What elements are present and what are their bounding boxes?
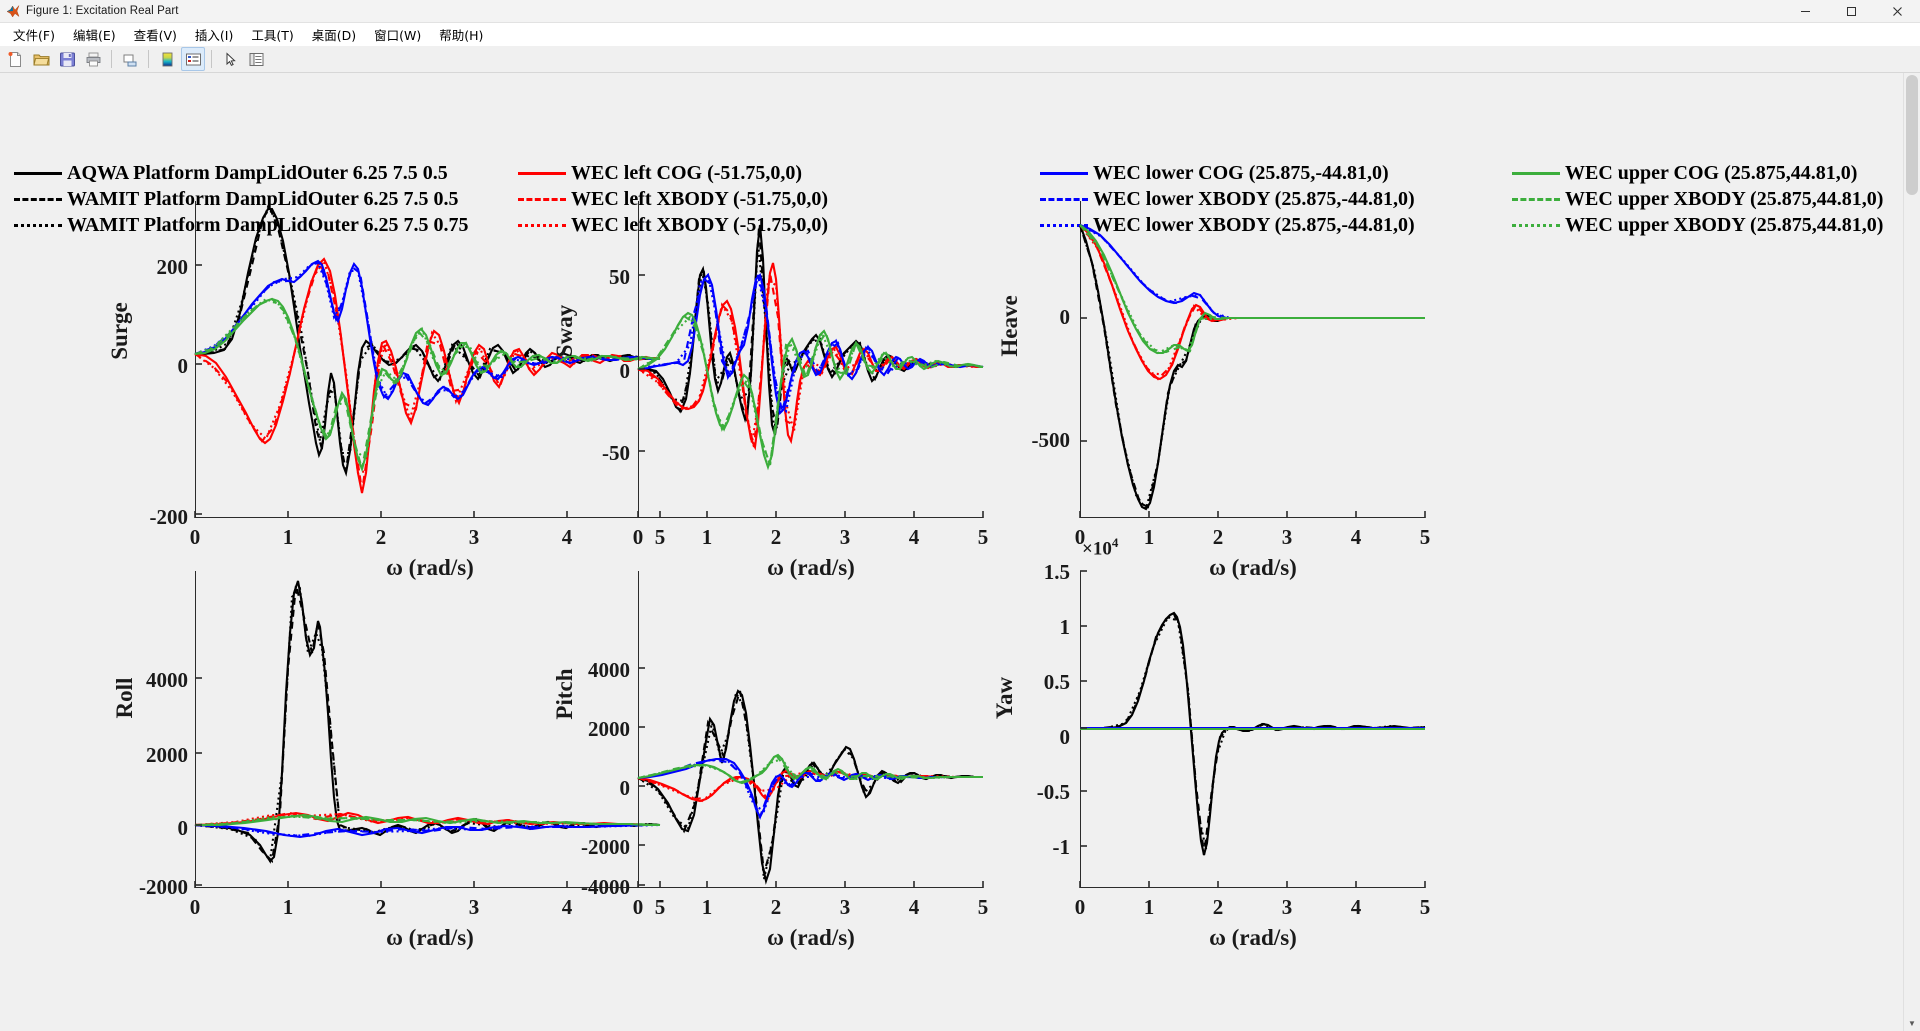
yaw-curves bbox=[0, 73, 1920, 1031]
plot-browser-icon bbox=[248, 51, 265, 68]
figure-vertical-scrollbar[interactable]: ▲ ▼ bbox=[1903, 73, 1920, 1031]
print-figure-button[interactable] bbox=[81, 47, 105, 71]
menu-view[interactable]: 查看(V) bbox=[125, 23, 186, 46]
window-titlebar: Figure 1: Excitation Real Part bbox=[0, 0, 1920, 23]
minimize-button[interactable] bbox=[1782, 0, 1828, 22]
edit-plot-button[interactable] bbox=[218, 47, 242, 71]
menu-file[interactable]: 文件(F) bbox=[4, 23, 64, 46]
legend-button[interactable] bbox=[181, 47, 205, 71]
scrollbar-thumb[interactable] bbox=[1906, 75, 1918, 195]
maximize-button[interactable] bbox=[1828, 0, 1874, 22]
figure-toolbar bbox=[0, 46, 1920, 73]
colorbar-button[interactable] bbox=[155, 47, 179, 71]
menu-edit[interactable]: 编辑(E) bbox=[64, 23, 125, 46]
toolbar-separator-1 bbox=[111, 50, 112, 68]
menu-window[interactable]: 窗口(W) bbox=[365, 23, 430, 46]
legend-icon bbox=[185, 51, 202, 68]
arrow-pointer-icon bbox=[222, 51, 239, 68]
plot-browser-button[interactable] bbox=[244, 47, 268, 71]
window-title: Figure 1: Excitation Real Part bbox=[26, 5, 179, 17]
menu-tools[interactable]: 工具(T) bbox=[242, 23, 302, 46]
figure-canvas: AQWA Platform DampLidOuter 6.25 7.5 0.5 … bbox=[0, 73, 1920, 1031]
new-figure-button[interactable] bbox=[3, 47, 27, 71]
open-folder-icon bbox=[33, 51, 50, 68]
scroll-down-arrow[interactable]: ▼ bbox=[1904, 1015, 1920, 1031]
menu-help[interactable]: 帮助(H) bbox=[430, 23, 492, 46]
new-document-icon bbox=[7, 51, 24, 68]
toolbar-separator-3 bbox=[211, 50, 212, 68]
link-plot-button[interactable] bbox=[118, 47, 142, 71]
open-file-button[interactable] bbox=[29, 47, 53, 71]
toolbar-separator-2 bbox=[148, 50, 149, 68]
menu-insert[interactable]: 插入(I) bbox=[186, 23, 242, 46]
matlab-icon bbox=[6, 4, 20, 18]
colorbar-icon bbox=[159, 51, 176, 68]
printer-icon bbox=[85, 51, 102, 68]
save-figure-button[interactable] bbox=[55, 47, 79, 71]
menubar: 文件(F) 编辑(E) 查看(V) 插入(I) 工具(T) 桌面(D) 窗口(W… bbox=[0, 23, 1920, 46]
floppy-save-icon bbox=[59, 51, 76, 68]
menu-desktop[interactable]: 桌面(D) bbox=[303, 23, 365, 46]
window-controls bbox=[1782, 0, 1920, 22]
link-plot-icon bbox=[122, 51, 139, 68]
close-button[interactable] bbox=[1874, 0, 1920, 22]
